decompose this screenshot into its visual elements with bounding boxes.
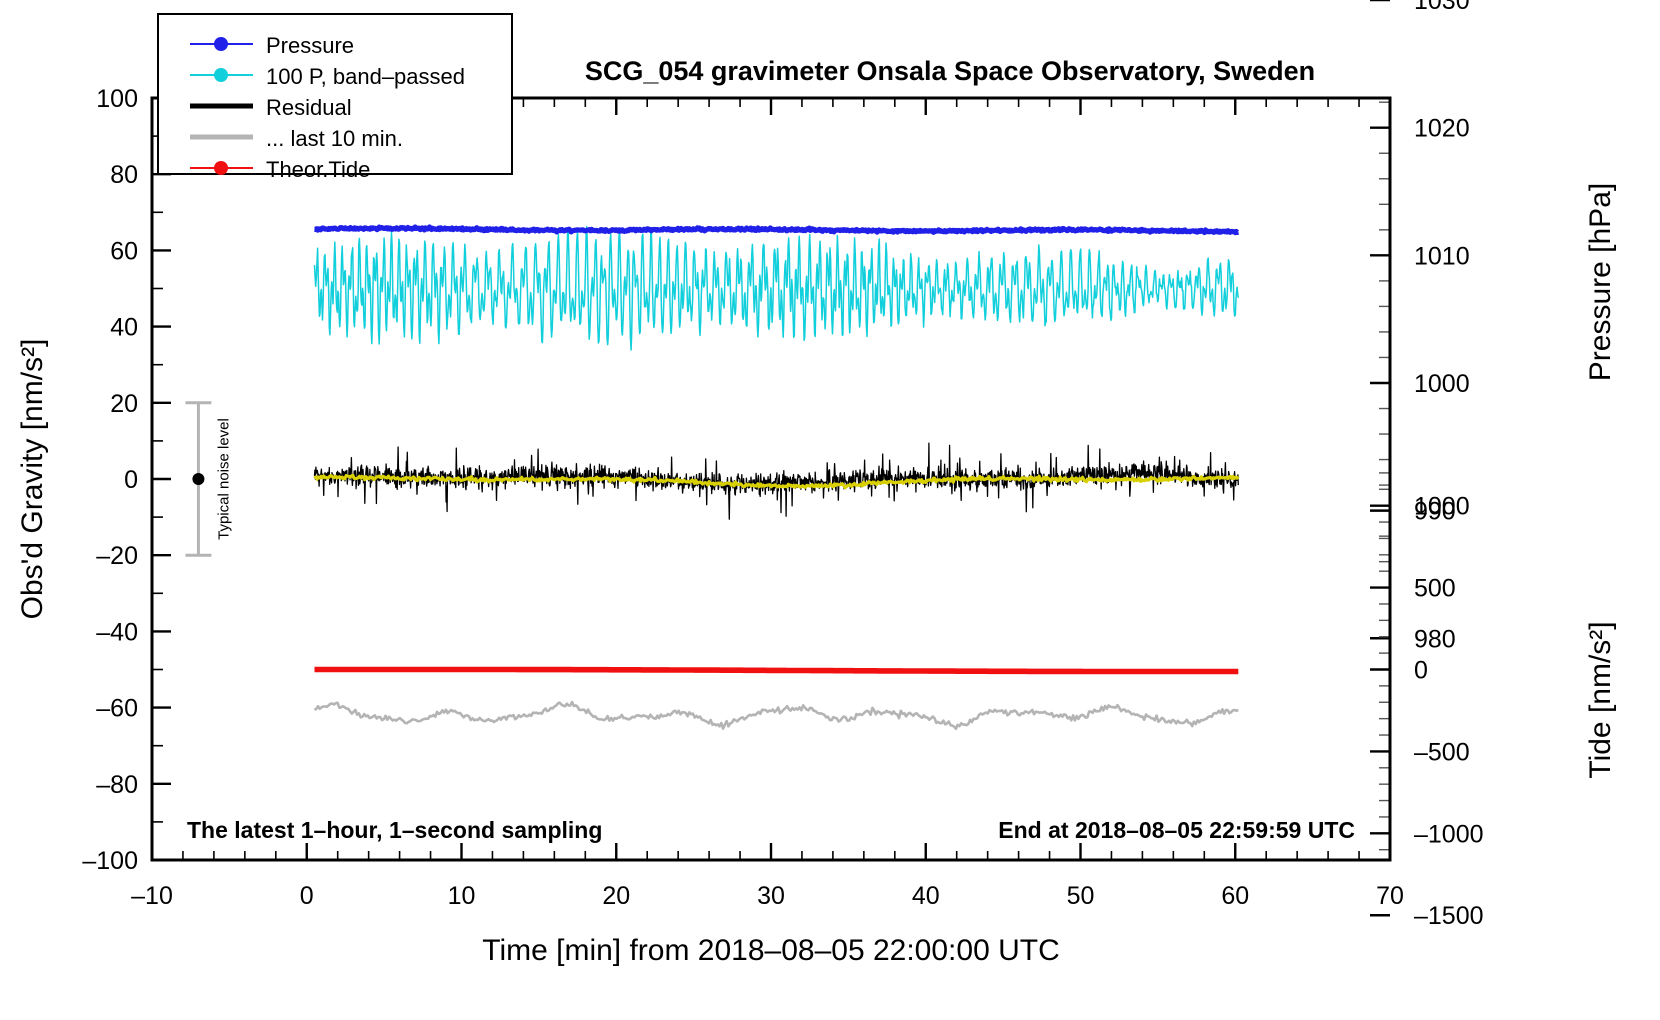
y-left-tick-label-9: –80 — [96, 771, 138, 799]
yaxis-left-title: Obs'd Gravity [nm/s²] — [16, 339, 49, 620]
x-tick-label-7: 60 — [1221, 882, 1249, 910]
y-pressure-tick-label-2: 1010 — [1414, 242, 1470, 270]
x-tick-label-6: 50 — [1067, 882, 1095, 910]
gravimeter-time-series-plot: –10010203040506070Time [min] from 2018–0… — [0, 0, 1660, 1020]
y-left-tick-label-0: 100 — [96, 85, 138, 113]
y-tide-tick-label-1: 500 — [1414, 575, 1456, 603]
legend-label-3: ... last 10 min. — [266, 126, 403, 151]
plot-title: SCG_054 gravimeter Onsala Space Observat… — [585, 56, 1315, 86]
y-left-tick-label-3: 40 — [110, 314, 138, 342]
x-tick-label-0: –10 — [131, 882, 173, 910]
y-left-tick-label-7: –40 — [96, 618, 138, 646]
y-left-tick-label-2: 60 — [110, 237, 138, 265]
y-tide-tick-label-4: –1000 — [1414, 820, 1484, 848]
y-pressure-tick-label-5: 980 — [1414, 625, 1456, 653]
x-tick-label-3: 20 — [602, 882, 630, 910]
legend-marker-1 — [214, 68, 228, 82]
x-tick-label-5: 40 — [912, 882, 940, 910]
noise-center-dot — [192, 473, 204, 485]
y-left-tick-label-8: –60 — [96, 695, 138, 723]
chart-figure: –10010203040506070Time [min] from 2018–0… — [0, 0, 1660, 1020]
legend-label-2: Residual — [266, 95, 352, 120]
series-theoretical-tide — [315, 670, 1239, 672]
annotation-bottom-left: The latest 1–hour, 1–second sampling — [187, 817, 602, 843]
series-pressure — [315, 227, 1239, 233]
legend-marker-4 — [214, 161, 228, 175]
x-tick-label-4: 30 — [757, 882, 785, 910]
y-tide-tick-label-3: –500 — [1414, 738, 1470, 766]
y-left-tick-label-6: –20 — [96, 542, 138, 570]
legend-marker-0 — [214, 37, 228, 51]
y-tide-tick-label-2: 0 — [1414, 657, 1428, 685]
legend-label-0: Pressure — [266, 33, 354, 58]
y-tide-tick-label-0: 1000 — [1414, 493, 1470, 521]
yaxis-pressure-title: Pressure [hPa] — [1584, 183, 1617, 381]
y-tide-tick-label-5: –1500 — [1414, 902, 1484, 930]
y-left-tick-label-1: 80 — [110, 161, 138, 189]
x-tick-label-2: 10 — [448, 882, 476, 910]
legend-label-1: 100 P, band–passed — [266, 64, 465, 89]
y-left-tick-label-5: 0 — [124, 466, 138, 494]
y-pressure-tick-label-0: 1030 — [1414, 0, 1470, 15]
yaxis-tide-title: Tide [nm/s²] — [1584, 621, 1617, 778]
noise-level-label: Typical noise level — [215, 418, 232, 540]
y-pressure-tick-label-1: 1020 — [1414, 115, 1470, 143]
annotation-bottom-right: End at 2018–08–05 22:59:59 UTC — [998, 817, 1355, 843]
x-tick-label-1: 0 — [300, 882, 314, 910]
legend-label-4: Theor.Tide — [266, 157, 370, 182]
x-tick-label-8: 70 — [1376, 882, 1404, 910]
y-left-tick-label-4: 20 — [110, 390, 138, 418]
y-left-tick-label-10: –100 — [82, 847, 138, 875]
xaxis-title: Time [min] from 2018–08–05 22:00:00 UTC — [482, 934, 1060, 967]
title-text: SCG_054 gravimeter Onsala Space Observat… — [0, 0, 1, 1]
y-pressure-tick-label-3: 1000 — [1414, 370, 1470, 398]
